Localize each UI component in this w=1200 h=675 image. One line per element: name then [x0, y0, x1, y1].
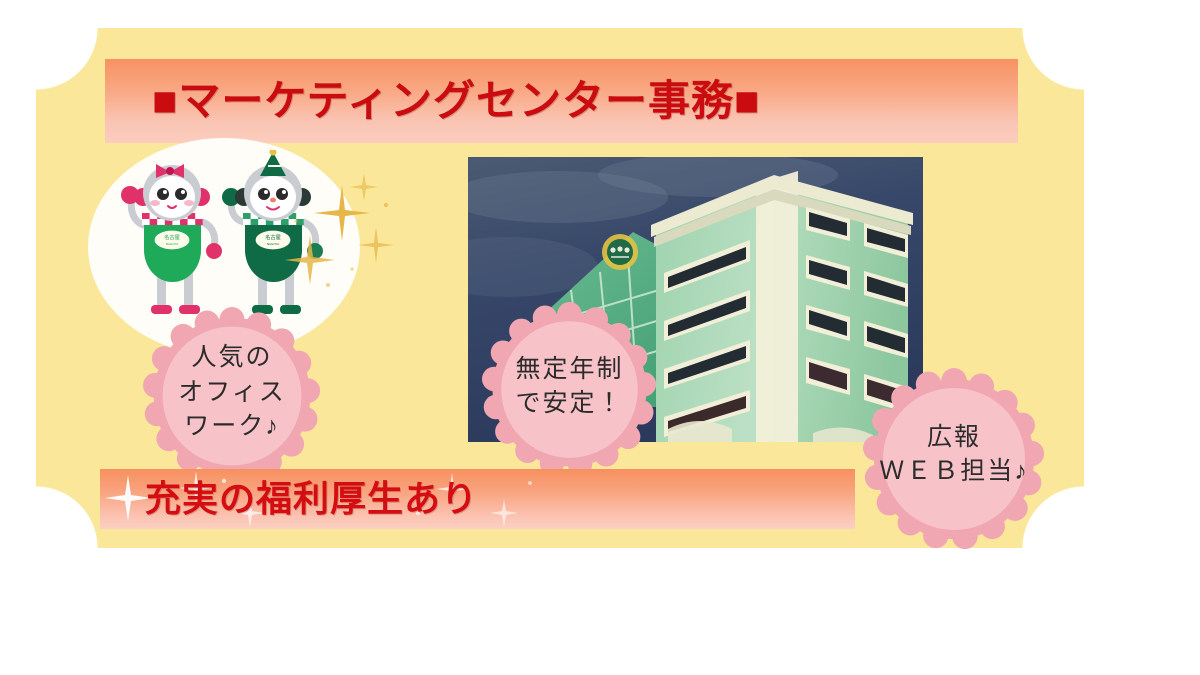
badge-label: 無定年制 で安定！	[515, 352, 623, 421]
badge-popular-office-work: 人気の オフィス ワーク♪	[143, 307, 321, 477]
badge-label: 人気の オフィス ワーク♪	[178, 340, 286, 444]
badge-label: 広報 ＷＥＢ担当♪	[879, 420, 1029, 489]
poster-canvas: ■マーケティングセンター事務■	[0, 0, 1200, 675]
svg-text:NAGOYA: NAGOYA	[166, 242, 179, 246]
bottom-banner-title: 充実の福利厚生あり	[145, 481, 478, 517]
badge-pr-web-role: 広報 ＷＥＢ担当♪	[863, 368, 1045, 540]
green-hat-robot: 名古屋 NAGOYA	[222, 150, 323, 314]
badge-no-retirement-age: 無定年制 で安定！	[482, 302, 657, 470]
page-title: ■マーケティングセンター事務■	[152, 80, 760, 122]
bottom-banner: 充実の福利厚生あり	[100, 469, 855, 529]
svg-text:名古屋: 名古屋	[164, 233, 180, 241]
pink-bow-robot: 名古屋 NAGOYA	[121, 164, 222, 314]
svg-text:NAGOYA: NAGOYA	[267, 242, 280, 246]
svg-text:名古屋: 名古屋	[265, 233, 281, 241]
header-banner: ■マーケティングセンター事務■	[105, 59, 1018, 143]
